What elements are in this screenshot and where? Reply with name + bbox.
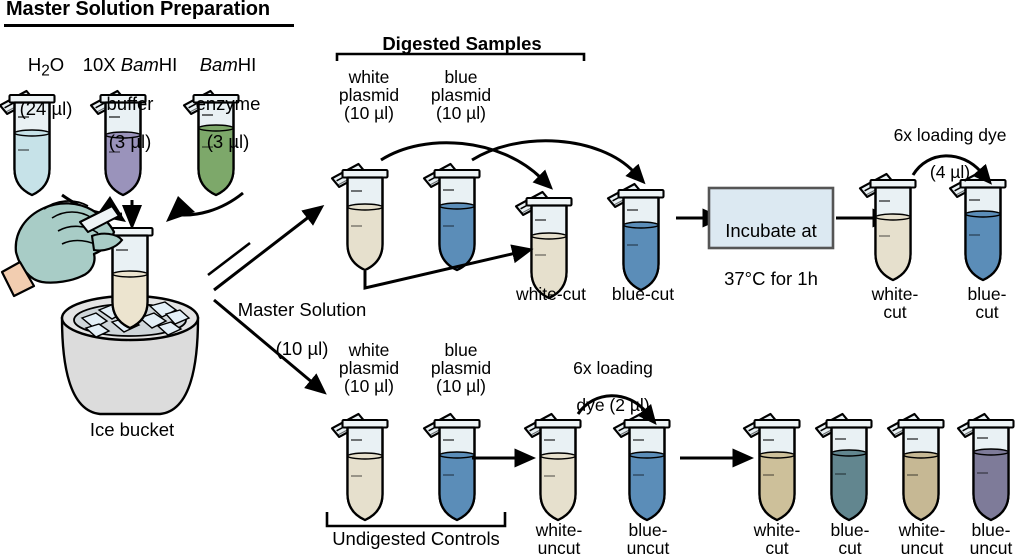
label-final-blue-uncut: blue- uncut (958, 521, 1024, 557)
buffer-volume: (3 µl) (109, 131, 152, 152)
digest-transfer-arrows (381, 141, 634, 178)
bracket-undigested-controls (327, 512, 505, 526)
tube-blue-plasmid-control (424, 414, 480, 520)
dye-top-line2: (4 µl) (930, 162, 970, 182)
label-final-blue-cut: blue- cut (815, 521, 885, 557)
h2o-formula: H2O (28, 54, 64, 75)
label-bamhi-buffer: 10X BamHI buffer (3 µl) (82, 36, 178, 151)
diagram-canvas: Master Solution Preparation (0, 0, 1024, 559)
tube-final-white-cut (744, 414, 800, 520)
label-loading-dye-bottom: 6x loading dye (2 µl) (543, 341, 683, 414)
tube-blue-uncut (614, 414, 670, 520)
label-white-uncut: white- uncut (520, 521, 598, 557)
tube-blue-cut-dyed (950, 174, 1006, 280)
tube-blue-cut (608, 184, 664, 290)
tube-white-cut (516, 192, 572, 298)
master-to-cut-arrow (365, 253, 516, 288)
buffer-word: buffer (107, 93, 154, 114)
tube-final-white-uncut (888, 414, 944, 520)
tube-final-blue-uncut (958, 414, 1014, 520)
label-final-white-cut: white- cut (740, 521, 814, 557)
label-white-plasmid-control: white plasmid (10 µl) (323, 341, 415, 396)
master-solution-text: Master Solution (238, 299, 367, 320)
label-blue-uncut: blue- uncut (610, 521, 686, 557)
header-undigested-controls: Undigested Controls (326, 529, 506, 548)
h2o-volume: (24 µl) (20, 98, 73, 119)
label-ice-bucket: Ice bucket (62, 420, 202, 439)
label-white-cut-dyed: white- cut (858, 285, 932, 321)
tube-white-uncut (525, 414, 581, 520)
enzyme-word: enzyme (196, 93, 261, 114)
label-loading-dye-top: 6x loading dye (4 µl) (877, 108, 1023, 181)
master-solution-volume: (10 µl) (276, 338, 329, 359)
tube-final-blue-cut (816, 414, 872, 520)
dye-top-line1: 6x loading dye (894, 125, 1007, 145)
label-white-cut: white-cut (503, 285, 599, 303)
tube-white-cut-dyed (860, 174, 916, 280)
label-blue-cut: blue-cut (599, 285, 687, 303)
bracket-digested-samples (337, 54, 584, 61)
label-bamhi-enzyme: BamHI enzyme (3 µl) (180, 36, 276, 151)
label-blue-plasmid-control: blue plasmid (10 µl) (415, 341, 507, 396)
label-final-white-uncut: white- uncut (881, 521, 963, 557)
dye-bottom-line1: 6x loading (573, 358, 653, 378)
tube-blue-plasmid (424, 164, 480, 270)
label-h2o: H2O (24 µl) (0, 36, 92, 118)
incubate-line1: Incubate at (725, 220, 817, 241)
tube-white-plasmid-control (332, 414, 388, 520)
tube-white-plasmid (332, 164, 388, 270)
incubate-label: Incubate at 37°C for 1h (709, 195, 833, 291)
header-digested-samples: Digested Samples (372, 34, 552, 53)
dye-bottom-line2: dye (2 µl) (576, 395, 649, 415)
label-white-plasmid-digested: white plasmid (10 µl) (323, 68, 415, 123)
ice-bucket-illustration (2, 201, 198, 414)
label-blue-cut-dyed: blue- cut (952, 285, 1022, 321)
enzyme-volume: (3 µl) (207, 131, 250, 152)
gloved-hand (2, 201, 122, 296)
incubate-line2: 37°C for 1h (724, 268, 818, 289)
label-blue-plasmid-digested: blue plasmid (10 µl) (415, 68, 507, 123)
